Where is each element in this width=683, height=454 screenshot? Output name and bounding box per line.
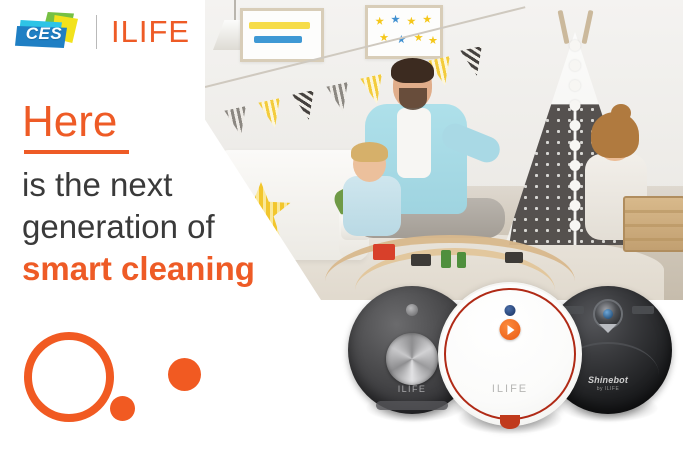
product-lineup: ILIFE ILIFE Shinebot by ILIFE bbox=[330, 282, 683, 442]
bunting-flag bbox=[360, 74, 387, 106]
headline-underline-rule bbox=[24, 150, 129, 154]
wooden-crate bbox=[623, 196, 683, 252]
crate-slat bbox=[625, 224, 683, 227]
girl-hair-bun bbox=[611, 104, 631, 122]
pompom bbox=[570, 220, 581, 231]
toy-train-car bbox=[411, 254, 431, 266]
camera-lens-icon bbox=[603, 309, 613, 319]
crate-slat bbox=[625, 238, 683, 241]
toy-block bbox=[373, 244, 395, 260]
pompom bbox=[570, 140, 581, 151]
teepee-panel-left bbox=[509, 104, 573, 245]
decor-circle-large-outline bbox=[24, 332, 114, 422]
polka-dot-pattern bbox=[509, 104, 573, 245]
headline-accent-word: Here bbox=[22, 100, 255, 144]
bunting-flag bbox=[460, 46, 487, 78]
product-brand-label: ILIFE bbox=[440, 383, 580, 395]
ilife-ces-promo-banner: CES ILIFE Here is the next generation of… bbox=[0, 0, 683, 454]
pompom bbox=[570, 180, 581, 191]
pompom bbox=[570, 100, 581, 111]
toy-tree bbox=[457, 252, 466, 268]
headline-line-1: is the next bbox=[22, 164, 255, 206]
front-bumper bbox=[376, 401, 448, 410]
headline-block: Here is the next generation of smart cle… bbox=[22, 100, 255, 291]
chevron-down-icon bbox=[599, 324, 617, 333]
pompom bbox=[570, 40, 581, 51]
toddler-body bbox=[343, 176, 401, 236]
bunting-flag bbox=[292, 90, 319, 122]
teepee-pole bbox=[558, 10, 570, 44]
headline-line-2: generation of bbox=[22, 206, 255, 248]
robot-vacuum-white[interactable]: ILIFE bbox=[438, 282, 582, 426]
pompom-trim bbox=[575, 34, 577, 244]
father-shirt bbox=[397, 108, 431, 178]
toddler-hair bbox=[351, 142, 388, 162]
side-vent-right bbox=[632, 306, 654, 314]
pompom bbox=[570, 160, 581, 171]
sensor-icon bbox=[406, 304, 418, 316]
pompom bbox=[570, 200, 581, 211]
teepee-pole bbox=[582, 10, 594, 44]
pompom bbox=[570, 80, 581, 91]
father-beard bbox=[399, 88, 427, 110]
headline-line-3: smart cleaning bbox=[22, 248, 255, 290]
toy-tree bbox=[441, 250, 451, 268]
ces-logo[interactable]: CES bbox=[14, 12, 82, 52]
power-button-icon[interactable] bbox=[500, 319, 521, 340]
bunting-flag bbox=[326, 82, 353, 114]
decor-circle-small-filled bbox=[110, 396, 135, 421]
pompom bbox=[570, 60, 581, 71]
decor-circle-medium-filled bbox=[168, 358, 201, 391]
toy-train-car bbox=[505, 252, 523, 263]
father-hair bbox=[391, 58, 434, 83]
play-triangle-icon bbox=[508, 325, 515, 335]
logo-row: CES ILIFE bbox=[14, 12, 190, 52]
front-nose bbox=[500, 415, 520, 429]
brushed-metal-dial[interactable] bbox=[386, 333, 438, 385]
bunting-flag bbox=[258, 98, 285, 130]
pompom bbox=[570, 120, 581, 131]
crate-slat bbox=[625, 210, 683, 213]
logo-divider bbox=[96, 15, 97, 49]
ilife-logo-text[interactable]: ILIFE bbox=[111, 14, 190, 50]
ces-logo-text: CES bbox=[20, 24, 68, 44]
blue-sensor-dot-icon bbox=[505, 305, 516, 316]
